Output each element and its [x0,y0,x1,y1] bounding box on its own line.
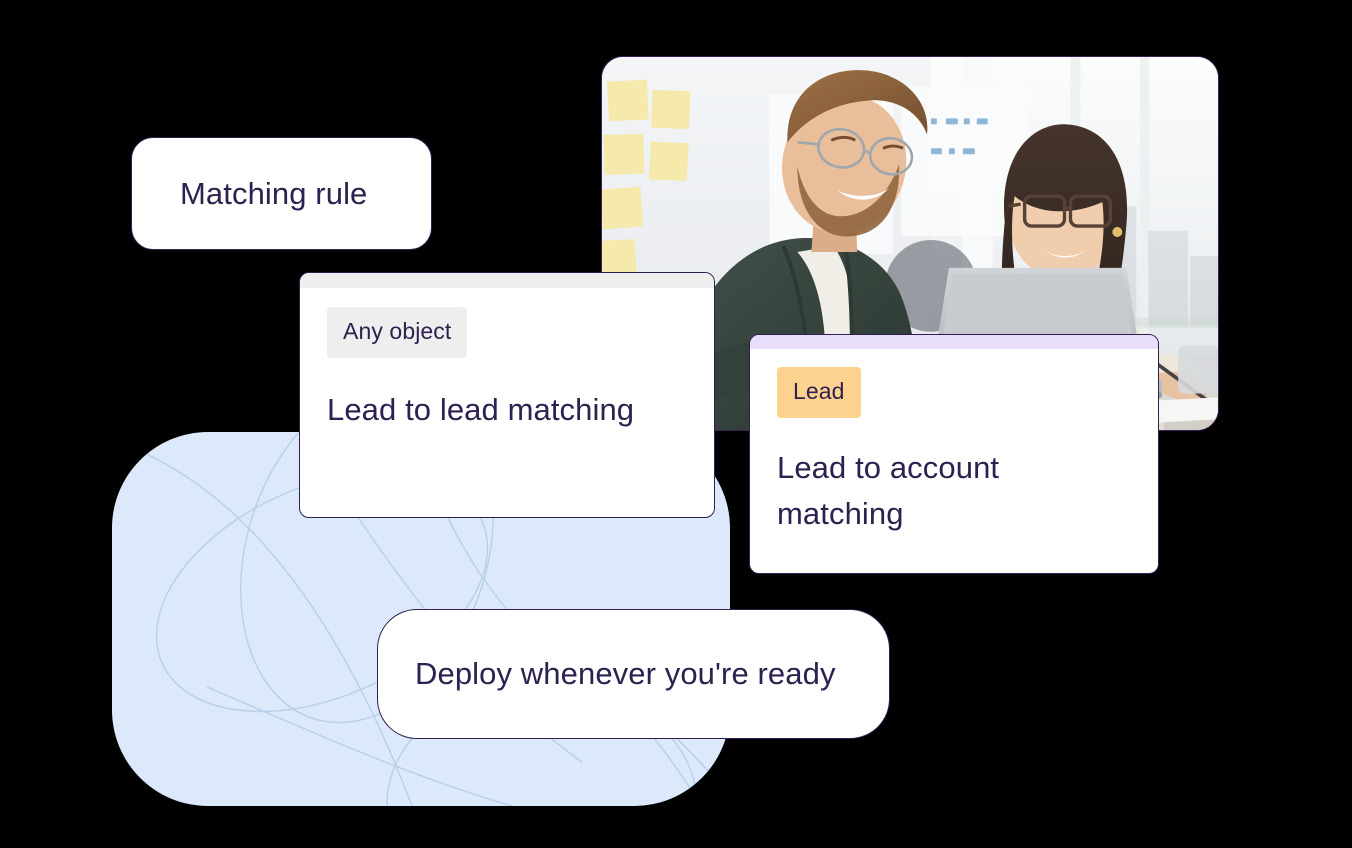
lead-chip[interactable]: Lead [777,367,861,418]
lead-to-account-card[interactable]: Lead Lead to account matching [749,334,1159,574]
illustration-stage: Matching rule Any object Lead to lead ma… [0,0,1352,848]
lead-to-lead-heading: Lead to lead matching [327,387,657,433]
card-top-strip [300,273,714,288]
deploy-card[interactable]: Deploy whenever you're ready [377,609,890,739]
matching-rule-card[interactable]: Matching rule [131,137,432,250]
any-object-chip[interactable]: Any object [327,307,467,358]
lead-to-lead-body: Any object Lead to lead matching [300,288,714,433]
card-top-strip [750,335,1158,349]
lead-to-account-body: Lead Lead to account matching [750,349,1158,537]
deploy-title: Deploy whenever you're ready [378,656,836,692]
matching-rule-title: Matching rule [132,176,367,212]
lead-to-lead-card[interactable]: Any object Lead to lead matching [299,272,715,518]
lead-to-account-heading: Lead to account matching [777,445,1107,537]
